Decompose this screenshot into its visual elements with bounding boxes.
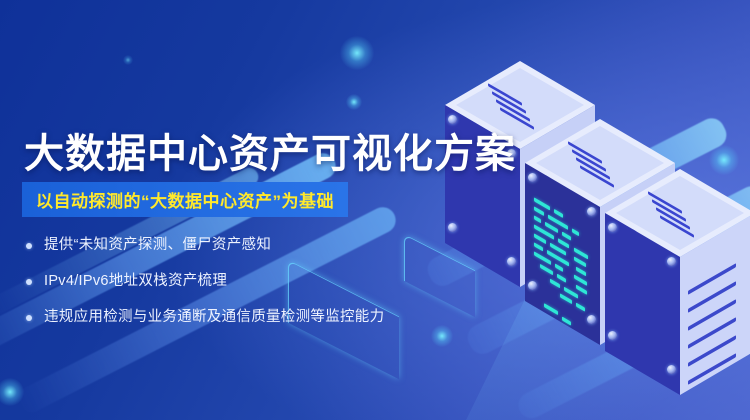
subtitle-badge: 以自动探测的“大数据中心资产”为基础: [22, 182, 348, 217]
list-item: IPv4/IPv6地址双栈资产梳理: [26, 272, 446, 291]
list-item: 违规应用检测与业务通断及通信质量检测等监控能力: [26, 308, 446, 327]
bullet-dot-icon: [26, 279, 32, 285]
list-item-label: 提供“未知资产探测、僵尸资产感知: [44, 236, 271, 255]
glow-particle: [346, 94, 362, 110]
glow-particle: [340, 36, 374, 70]
bullet-dot-icon: [26, 243, 32, 249]
bullet-dot-icon: [26, 315, 32, 321]
list-item-label: 违规应用检测与业务通断及通信质量检测等监控能力: [44, 308, 384, 327]
list-item-label: IPv4/IPv6地址双栈资产梳理: [44, 272, 227, 291]
page-title: 大数据中心资产可视化方案: [24, 121, 516, 179]
banner: 大数据中心资产可视化方案 以自动探测的“大数据中心资产”为基础 提供“未知资产探…: [0, 0, 750, 420]
server-racks-illustration: [430, 55, 750, 395]
feature-list: 提供“未知资产探测、僵尸资产感知 IPv4/IPv6地址双栈资产梳理 违规应用检…: [26, 236, 446, 344]
list-item: 提供“未知资产探测、僵尸资产感知: [26, 236, 446, 255]
glow-particle: [123, 55, 133, 65]
